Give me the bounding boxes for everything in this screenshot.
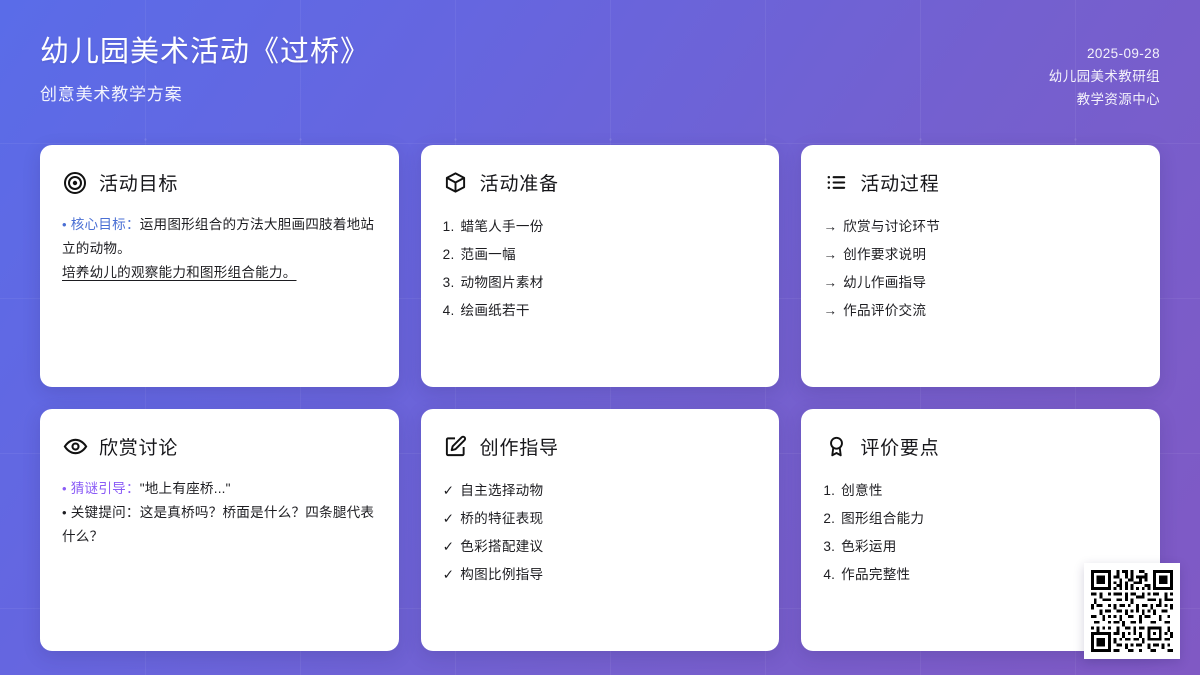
list-text: 创意性: [841, 483, 883, 498]
list-text: 创作要求说明: [843, 247, 926, 262]
list-text: 欣赏与讨论环节: [843, 219, 940, 234]
qr-code[interactable]: [1084, 563, 1180, 659]
card-title: 活动过程: [860, 169, 939, 196]
card-activity-process[interactable]: 活动过程 →欣赏与讨论环节 →创作要求说明 →幼儿作画指导 →作品评价交流: [801, 145, 1160, 387]
riddle-separator: ：: [126, 481, 140, 496]
header-meta-block: 2025-09-28 幼儿园美术教研组 教学资源中心: [1049, 28, 1160, 112]
check-marker: ✓: [443, 477, 455, 505]
list-item: ✓桥的特征表现: [443, 505, 758, 533]
card-activity-preparation[interactable]: 活动准备 1.蜡笔人手一份 2.范画一幅 3.动物图片素材 4.绘画纸若干: [421, 145, 780, 387]
list-text: 幼儿作画指导: [843, 275, 926, 290]
card-title: 评价要点: [860, 433, 939, 460]
arrow-marker: →: [823, 269, 837, 297]
edit-square-icon: [443, 434, 469, 460]
process-list: →欣赏与讨论环节 →创作要求说明 →幼儿作画指导 →作品评价交流: [823, 213, 1138, 324]
card-body: • 猜谜引导："地上有座桥..." • 关键提问：这是真桥吗？桥面是什么？四条腿…: [62, 477, 377, 550]
card-title: 活动准备: [480, 169, 559, 196]
guidance-list: ✓自主选择动物 ✓桥的特征表现 ✓色彩搭配建议 ✓构图比例指导: [443, 477, 758, 588]
card-body: • 核心目标：运用图形组合的方法大胆画四肢着地站立的动物。 培养幼儿的观察能力和…: [62, 213, 377, 286]
bullet-marker: •: [62, 481, 67, 496]
list-item: 4.绘画纸若干: [443, 297, 758, 325]
list-marker: 2.: [823, 505, 835, 533]
list-text: 动物图片素材: [461, 275, 544, 290]
list-icon: [823, 170, 849, 196]
eye-icon: [62, 434, 88, 460]
list-item: 3.动物图片素材: [443, 269, 758, 297]
qr-code-image: [1091, 570, 1173, 652]
list-marker: 4.: [443, 297, 455, 325]
list-text: 作品评价交流: [843, 303, 926, 318]
list-item: →作品评价交流: [823, 297, 1138, 325]
list-item: 1.创意性: [823, 477, 1138, 505]
card-grid: 活动目标 • 核心目标：运用图形组合的方法大胆画四肢着地站立的动物。 培养幼儿的…: [40, 145, 1160, 651]
card-header: 欣赏讨论: [62, 433, 377, 460]
list-marker: 3.: [443, 269, 455, 297]
header-date: 2025-09-28: [1049, 42, 1160, 65]
list-text: 绘画纸若干: [461, 303, 530, 318]
header-dept: 教学资源中心: [1049, 88, 1160, 111]
list-marker: 2.: [443, 241, 455, 269]
card-header: 活动准备: [443, 169, 758, 196]
list-marker: 3.: [823, 533, 835, 561]
goal-lead-label: 核心目标: [71, 217, 126, 232]
page-title: 幼儿园美术活动《过桥》: [40, 34, 370, 70]
key-question-line: • 关键提问：这是真桥吗？桥面是什么？四条腿代表什么？: [62, 501, 377, 549]
list-text: 自主选择动物: [460, 483, 543, 498]
card-creation-guidance[interactable]: 创作指导 ✓自主选择动物 ✓桥的特征表现 ✓色彩搭配建议 ✓构图比例指导: [421, 409, 780, 651]
list-text: 桥的特征表现: [460, 511, 543, 526]
card-header: 创作指导: [443, 433, 758, 460]
list-text: 作品完整性: [841, 567, 910, 582]
list-item: 2.范画一幅: [443, 241, 758, 269]
card-header: 活动过程: [823, 169, 1138, 196]
riddle-line: • 猜谜引导："地上有座桥...": [62, 477, 377, 501]
key-question-text: 关键提问：这是真桥吗？桥面是什么？四条腿代表什么？: [62, 505, 374, 544]
list-text: 色彩搭配建议: [460, 539, 543, 554]
bullet-marker: •: [62, 217, 67, 232]
page-header: 幼儿园美术活动《过桥》 创意美术教学方案 2025-09-28 幼儿园美术教研组…: [40, 28, 1160, 124]
goal-separator: ：: [126, 217, 140, 232]
goal-underlined-text: 培养幼儿的观察能力和图形组合能力。: [62, 265, 297, 280]
riddle-lead-label: 猜谜引导: [71, 481, 126, 496]
list-item: ✓自主选择动物: [443, 477, 758, 505]
card-title: 欣赏讨论: [99, 433, 178, 460]
list-item: →欣赏与讨论环节: [823, 213, 1138, 241]
bullet-marker: •: [62, 505, 67, 520]
card-appreciation-discussion[interactable]: 欣赏讨论 • 猜谜引导："地上有座桥..." • 关键提问：这是真桥吗？桥面是什…: [40, 409, 399, 651]
list-marker: 1.: [443, 213, 455, 241]
header-title-block: 幼儿园美术活动《过桥》 创意美术教学方案: [40, 28, 370, 105]
goal-underlined-line: 培养幼儿的观察能力和图形组合能力。: [62, 261, 377, 285]
list-text: 色彩运用: [841, 539, 896, 554]
target-icon: [62, 170, 88, 196]
check-marker: ✓: [443, 505, 455, 533]
list-item: →幼儿作画指导: [823, 269, 1138, 297]
list-marker: 4.: [823, 561, 835, 589]
list-item: 2.图形组合能力: [823, 505, 1138, 533]
list-marker: 1.: [823, 477, 835, 505]
list-item: ✓构图比例指导: [443, 561, 758, 589]
check-marker: ✓: [443, 533, 455, 561]
card-title: 创作指导: [480, 433, 559, 460]
card-header: 活动目标: [62, 169, 377, 196]
riddle-body-text: "地上有座桥...": [140, 481, 231, 496]
preparation-list: 1.蜡笔人手一份 2.范画一幅 3.动物图片素材 4.绘画纸若干: [443, 213, 758, 324]
list-item: 1.蜡笔人手一份: [443, 213, 758, 241]
goal-paragraph: • 核心目标：运用图形组合的方法大胆画四肢着地站立的动物。: [62, 213, 377, 261]
card-header: 评价要点: [823, 433, 1138, 460]
check-marker: ✓: [443, 561, 455, 589]
arrow-marker: →: [823, 297, 837, 325]
list-item: ✓色彩搭配建议: [443, 533, 758, 561]
package-icon: [443, 170, 469, 196]
list-text: 图形组合能力: [841, 511, 924, 526]
list-item: →创作要求说明: [823, 241, 1138, 269]
header-org: 幼儿园美术教研组: [1049, 65, 1160, 88]
list-item: 3.色彩运用: [823, 533, 1138, 561]
arrow-marker: →: [823, 213, 837, 241]
award-icon: [823, 434, 849, 460]
list-text: 构图比例指导: [460, 567, 543, 582]
card-title: 活动目标: [99, 169, 178, 196]
card-activity-goals[interactable]: 活动目标 • 核心目标：运用图形组合的方法大胆画四肢着地站立的动物。 培养幼儿的…: [40, 145, 399, 387]
arrow-marker: →: [823, 241, 837, 269]
list-text: 范画一幅: [461, 247, 516, 262]
page-subtitle: 创意美术教学方案: [40, 80, 370, 105]
list-text: 蜡笔人手一份: [461, 219, 544, 234]
